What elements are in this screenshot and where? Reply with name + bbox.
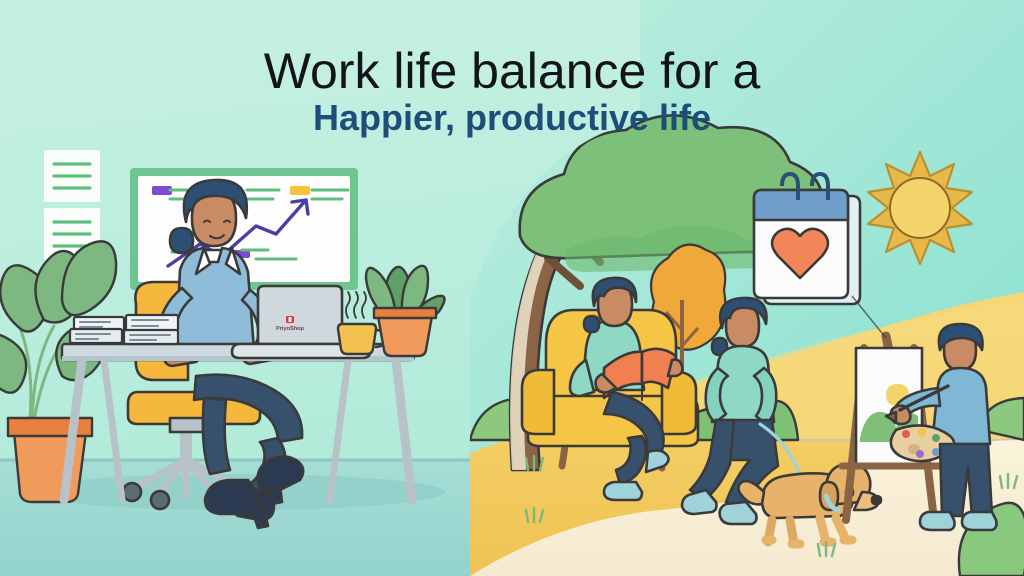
paper-stack-2 [126, 315, 178, 331]
painter-shoe-left [920, 512, 955, 530]
laptop-screen [258, 286, 342, 344]
worker-hair-bun [170, 228, 193, 253]
chair-hub [170, 418, 204, 432]
painter-shoe-right [962, 512, 997, 530]
armchair-arm-left [522, 370, 554, 434]
headline-line2: Happier, productive life [313, 97, 711, 138]
wall-note-card-top [44, 150, 100, 202]
dog-nose [872, 496, 881, 504]
worker-heel-raised [270, 486, 282, 504]
reader-hand-2 [668, 360, 682, 376]
illustration-canvas: PriyoShop Work life balance for a Happie… [0, 0, 1024, 576]
floor-plant-pot-rim [8, 418, 92, 436]
laptop-logo-text: PriyoShop [276, 326, 305, 332]
reader-hair-bun [584, 316, 599, 332]
reader-shoe-a [604, 482, 642, 500]
calendar-heart [754, 174, 860, 304]
mug-body [338, 324, 376, 354]
calendar-header [754, 190, 848, 220]
paper-stack-4 [124, 330, 178, 344]
paper-stack-3 [70, 329, 122, 343]
desk-plant-pot-rim [374, 308, 436, 318]
desk-plant-pot [378, 316, 432, 356]
sun-disc [890, 178, 950, 238]
headline-line1: Work life balance for a [264, 43, 761, 99]
worker-shin-back [203, 398, 230, 474]
paper-stacks [70, 315, 178, 344]
